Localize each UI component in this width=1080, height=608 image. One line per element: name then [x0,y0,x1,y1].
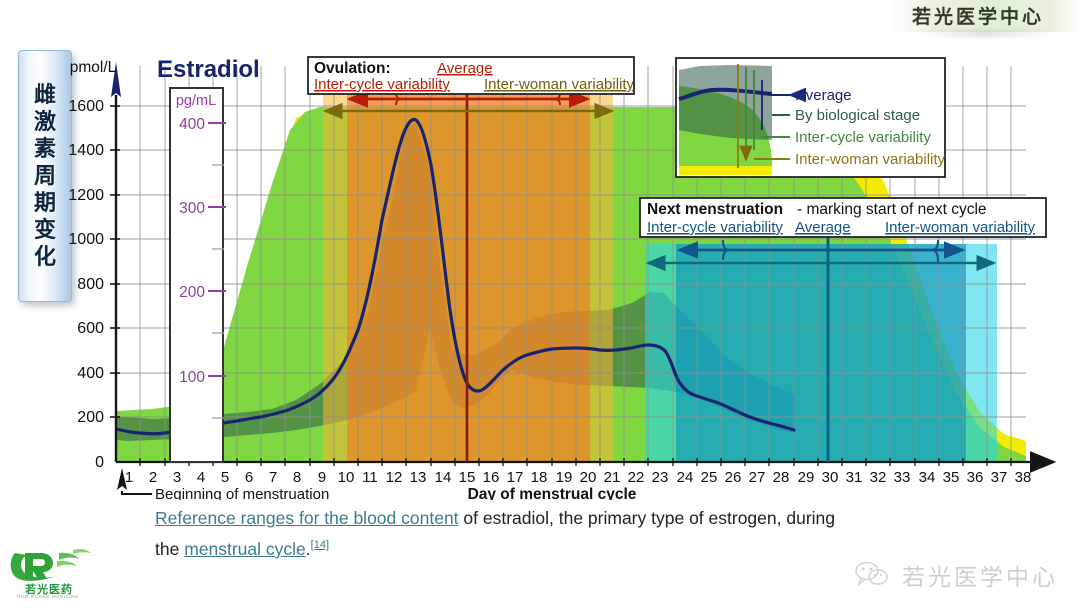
x-tick-label: 24 [677,469,694,486]
x-tick-label: 27 [749,469,766,486]
x-tick-label: 26 [725,469,742,486]
x-tick-label: 37 [991,469,1008,486]
legend-label-biological-stage: By biological stage [795,107,920,124]
y-axis-tick-labels: 1600 1400 1200 1000 800 600 400 200 0 [68,98,104,471]
x-tick-label: 3 [173,469,181,486]
x-axis-title: Day of menstrual cycle [468,486,637,500]
next-menstruation-inter-cycle-label: Inter-cycle variability [647,219,783,236]
x-axis-tick-labels: 1 2 3 4 5 6 7 8 9 10 11 12 13 14 15 16 1… [125,469,1032,486]
caption-reference-number[interactable]: [14] [311,539,329,551]
caption-mid-text: of estradiol, the primary type of estrog… [459,508,835,528]
ovulation-inter-cycle-label: Inter-cycle variability [314,76,450,93]
caption-link-menstrual-cycle[interactable]: menstrual cycle [184,539,306,559]
x-tick-label: 8 [293,469,301,486]
wechat-watermark-text: 若光医学中心 [902,558,1058,592]
y-tick-label: 1000 [68,231,104,248]
ovulation-average-label: Average [437,60,493,77]
x-tick-label: 11 [362,469,378,486]
x-tick-label: 17 [507,469,524,486]
x-tick-label: 2 [149,469,157,486]
legend-mini-stage-band [679,65,772,140]
company-logo: 若光医药 RUO GUANG MEDICINE [3,545,108,603]
x-tick-label: 30 [822,469,839,486]
figure-caption: Reference ranges for the blood content o… [155,505,955,563]
x-tick-label: 36 [967,469,984,486]
x-tick-label: 9 [318,469,326,486]
caption-the: the [155,539,184,559]
estradiol-chart: 1600 1400 1200 1000 800 600 400 200 0 pm… [0,0,1080,500]
x-tick-label: 14 [435,469,452,486]
x-tick-label: 35 [943,469,960,486]
x-tick-label: 32 [870,469,887,486]
y-tick-label: 1400 [68,142,104,159]
secondary-y-tick-label: 400 [179,116,205,133]
x-tick-label: 28 [773,469,790,486]
ovulation-inter-cycle-highlight [347,94,590,462]
x-tick-label: 25 [701,469,718,486]
secondary-axis-pgml: pg/mL 400 300 200 100 [170,88,226,462]
x-tick-label: 34 [919,469,936,486]
next-menstruation-annotation-box: Next menstruation - marking start of nex… [640,198,1046,237]
x-tick-label: 21 [604,469,621,486]
secondary-y-tick-label: 100 [179,369,205,386]
chart-title: Estradiol [157,56,260,83]
y-tick-label: 1200 [68,187,104,204]
logo-subtitle-pinyin: RUO GUANG MEDICINE [17,594,79,599]
x-tick-label: 23 [652,469,669,486]
x-tick-label: 22 [628,469,645,486]
x-tick-label: 16 [483,469,500,486]
beginning-of-menstruation-label: Beginning of menstruation [155,486,329,500]
x-tick-label: 13 [410,469,427,486]
y-tick-label: 800 [77,276,104,293]
wechat-icon [853,560,893,590]
x-tick-label: 31 [846,469,863,486]
x-tick-label: 18 [531,469,548,486]
x-tick-label: 7 [269,469,277,486]
y-tick-label: 600 [77,320,104,337]
x-tick-label: 4 [197,469,205,486]
x-tick-label: 6 [245,469,253,486]
legend-label-inter-woman: Inter-woman variability [795,151,946,168]
y-tick-label: 400 [77,365,104,382]
ovulation-title: Ovulation: [314,60,391,77]
logo-mark-icon [3,545,108,585]
y-axis-unit-label: pmol/L [70,59,117,76]
next-menstruation-average-label: Average [795,219,851,236]
ovulation-inter-woman-label: Inter-woman variability [484,76,635,93]
wechat-watermark: 若光医学中心 [853,558,1058,592]
next-menstruation-title-rest: - marking start of next cycle [797,201,987,218]
next-menstruation-highlight [645,244,997,462]
x-tick-label: 19 [556,469,573,486]
x-tick-label: 1 [125,469,133,486]
next-menstruation-inter-cycle-highlight [676,244,966,462]
x-tick-label: 38 [1015,469,1032,486]
x-tick-label: 29 [798,469,815,486]
x-tick-label: 5 [221,469,229,486]
next-menstruation-inter-woman-label: Inter-woman variability [885,219,1036,236]
secondary-axis-unit-label: pg/mL [176,93,216,109]
legend-box: Average By biological stage Inter-cycle … [676,58,946,177]
x-tick-label: 12 [386,469,403,486]
ovulation-annotation-box: Ovulation: Average Inter-cycle variabili… [308,57,635,94]
y-tick-label: 200 [77,409,104,426]
next-menstruation-title-bold: Next menstruation [647,201,783,218]
y-tick-label: 1600 [68,98,104,115]
x-tick-label: 33 [894,469,911,486]
caption-link-reference-ranges[interactable]: Reference ranges for the blood content [155,508,459,528]
y-tick-label: 0 [95,454,104,471]
secondary-y-tick-label: 300 [179,200,205,217]
x-tick-label: 15 [459,469,476,486]
x-tick-label: 10 [338,469,355,486]
legend-label-inter-cycle: Inter-cycle variability [795,129,931,146]
secondary-y-tick-label: 200 [179,284,205,301]
legend-label-average: Average [796,87,852,104]
x-tick-label: 20 [580,469,597,486]
